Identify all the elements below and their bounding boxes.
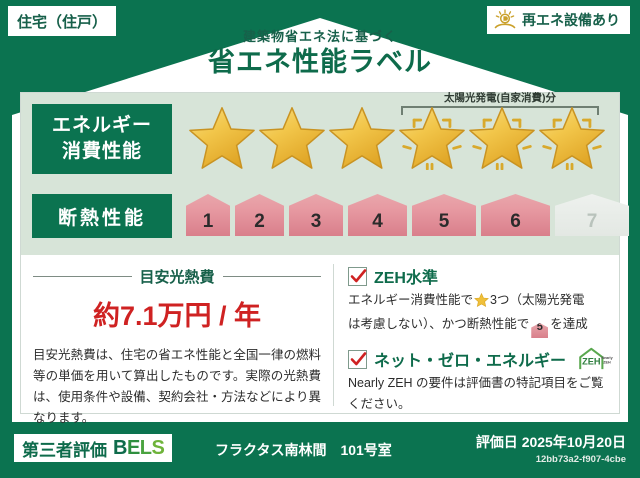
bels-badge: 第三者評価 BELS bbox=[14, 434, 172, 462]
performance-band: エネルギー 消費性能 太陽光発電(自家消費)分 断熱性能 1234567 bbox=[21, 93, 619, 255]
zeh-body-part1: エネルギー消費性能で bbox=[348, 293, 473, 307]
energy-cost-value: 約7.1万円 / 年 bbox=[33, 294, 321, 333]
energy-cost-heading-label: 目安光熱費 bbox=[140, 266, 215, 287]
renewable-badge-label: 再エネ設備あり bbox=[522, 10, 620, 30]
check-icon bbox=[348, 267, 367, 286]
insulation-badge: 4 bbox=[348, 194, 407, 236]
evaluation-date: 評価日 2025年10月20日 bbox=[476, 432, 626, 452]
sun-solar-icon bbox=[493, 9, 517, 31]
footer-right-block: 評価日 2025年10月20日 12bb73a2-f907-4cbe bbox=[476, 432, 626, 465]
zeh-body-part2: は考慮しない）、かつ断熱性能で bbox=[348, 317, 529, 331]
zeh-body-part3: を達成 bbox=[550, 317, 588, 331]
zeh-standard-title: ZEH水準 bbox=[374, 264, 438, 288]
svg-text:ZEH: ZEH bbox=[582, 357, 601, 367]
insulation-badge-list: 1234567 bbox=[186, 194, 629, 236]
insulation-badges-area: 1234567 bbox=[172, 191, 619, 241]
star-rating bbox=[188, 104, 606, 170]
insulation-badge: 6 bbox=[481, 194, 550, 236]
inline-insulation-badge: 5 bbox=[531, 323, 548, 338]
energy-performance-row: エネルギー 消費性能 太陽光発電(自家消費)分 bbox=[21, 102, 619, 176]
net-zero-energy-title: ネット・ゼロ・エネルギー bbox=[374, 347, 566, 371]
inline-star-icon bbox=[474, 296, 489, 310]
insulation-tag-label: 断熱性能 bbox=[58, 203, 146, 230]
energy-cost-heading: 目安光熱費 bbox=[33, 266, 321, 287]
energy-stars-area: 太陽光発電(自家消費)分 bbox=[172, 102, 619, 176]
star-icon bbox=[188, 104, 256, 170]
bels-logo: BELS bbox=[113, 437, 164, 460]
zeh-column: ZEH水準 エネルギー消費性能で3つ（太陽光発電は考慮しない）、かつ断熱性能で5… bbox=[334, 256, 619, 414]
insulation-performance-tag: 断熱性能 bbox=[32, 194, 172, 238]
evaluation-id: 12bb73a2-f907-4cbe bbox=[476, 454, 626, 465]
insulation-badge: 7 bbox=[555, 194, 629, 236]
check-icon bbox=[348, 350, 367, 369]
zeh-standard-heading: ZEH水準 bbox=[348, 264, 609, 288]
insulation-badge: 5 bbox=[412, 194, 476, 236]
energy-performance-tag: エネルギー 消費性能 bbox=[32, 104, 172, 174]
star-icon bbox=[328, 104, 396, 170]
lower-section: 目安光熱費 約7.1万円 / 年 目安光熱費は、住宅の省エネ性能と全国一律の燃料… bbox=[21, 256, 619, 414]
star-icon bbox=[538, 104, 606, 170]
net-zero-energy-heading: ネット・ゼロ・エネルギー ZEH Nearly ZEH bbox=[348, 347, 609, 371]
energy-label-root: 住宅（住戸） 再エネ設備あり 建築物省エネ法に基づく 省エネ性能ラベル bbox=[0, 0, 640, 478]
star-icon bbox=[258, 104, 326, 170]
energy-cost-note: 目安光熱費は、住宅の省エネ性能と全国一律の燃料等の単価を用いて算出したものです。… bbox=[33, 345, 321, 429]
dwelling-type-tag: 住宅（住戸） bbox=[8, 6, 116, 36]
heading-rule-left bbox=[33, 276, 132, 277]
building-name: フラクタス南林間 101号室 bbox=[215, 440, 392, 460]
insulation-badge: 1 bbox=[186, 194, 230, 236]
energy-tag-line2: 消費性能 bbox=[62, 139, 142, 165]
svg-text:ZEH: ZEH bbox=[603, 361, 611, 365]
zeh-standard-body: エネルギー消費性能で3つ（太陽光発電は考慮しない）、かつ断熱性能で5を達成 bbox=[348, 290, 609, 338]
energy-cost-column: 目安光熱費 約7.1万円 / 年 目安光熱費は、住宅の省エネ性能と全国一律の燃料… bbox=[21, 256, 333, 414]
insulation-badge: 2 bbox=[235, 194, 284, 236]
star-icon bbox=[468, 104, 536, 170]
net-zero-energy-body: Nearly ZEH の要件は評価書の特記項目をご覧ください。 bbox=[348, 373, 609, 415]
zeh-body-star-count: 3つ（太陽光発電 bbox=[490, 293, 584, 307]
heading-rule-right bbox=[223, 276, 322, 277]
insulation-badge: 3 bbox=[289, 194, 343, 236]
page-title: 省エネ性能ラベル bbox=[0, 46, 640, 78]
star-icon bbox=[398, 104, 466, 170]
dwelling-type-label: 住宅（住戸） bbox=[17, 11, 107, 32]
energy-tag-line1: エネルギー bbox=[52, 113, 152, 139]
label-footer: 第三者評価 BELS フラクタス南林間 101号室 評価日 2025年10月20… bbox=[0, 424, 640, 478]
renewable-equipment-badge: 再エネ設備あり bbox=[487, 6, 630, 34]
insulation-performance-row: 断熱性能 1234567 bbox=[21, 191, 619, 241]
zeh-house-logo-icon: ZEH Nearly ZEH bbox=[575, 347, 609, 371]
solar-span-label: 太陽光発電(自家消費)分 bbox=[394, 90, 606, 105]
svg-text:Nearly: Nearly bbox=[601, 356, 613, 360]
bels-jp-label: 第三者評価 bbox=[22, 436, 107, 461]
